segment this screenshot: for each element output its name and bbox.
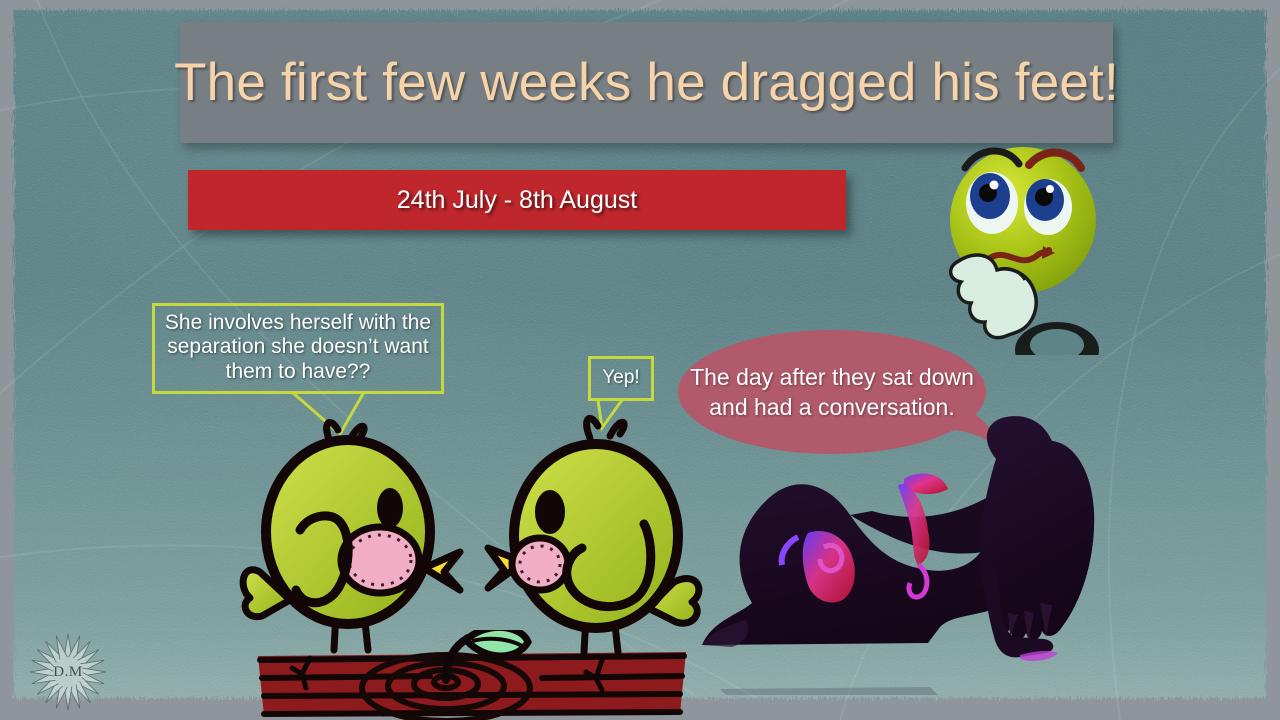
left-bird [238, 412, 468, 662]
date-range-label: 24th July - 8th August [397, 186, 637, 215]
speech-bubble-she-involves-text: She involves herself with the separation… [163, 311, 433, 385]
slide-title-bar: The first few weeks he dragged his feet! [180, 22, 1113, 143]
page-title: The first few weeks he dragged his feet! [174, 52, 1119, 113]
speech-bubble-she-involves: She involves herself with the separation… [152, 303, 444, 394]
speech-bubble-yep-text: Yep! [602, 367, 639, 389]
speech-bubble-yep: Yep! [588, 356, 654, 401]
date-range-banner: 24th July - 8th August [188, 170, 846, 230]
watermark-logo-text: D.M [26, 630, 110, 714]
thinking-emoji [945, 140, 1130, 355]
right-bird [478, 412, 708, 662]
speech-bubble-day-after-text: The day after they sat down and had a co… [678, 362, 986, 423]
slide-root: The first few weeks he dragged his feet!… [0, 0, 1280, 720]
silhouette-figure [690, 415, 1100, 695]
watermark-logo: D.M [26, 630, 110, 714]
